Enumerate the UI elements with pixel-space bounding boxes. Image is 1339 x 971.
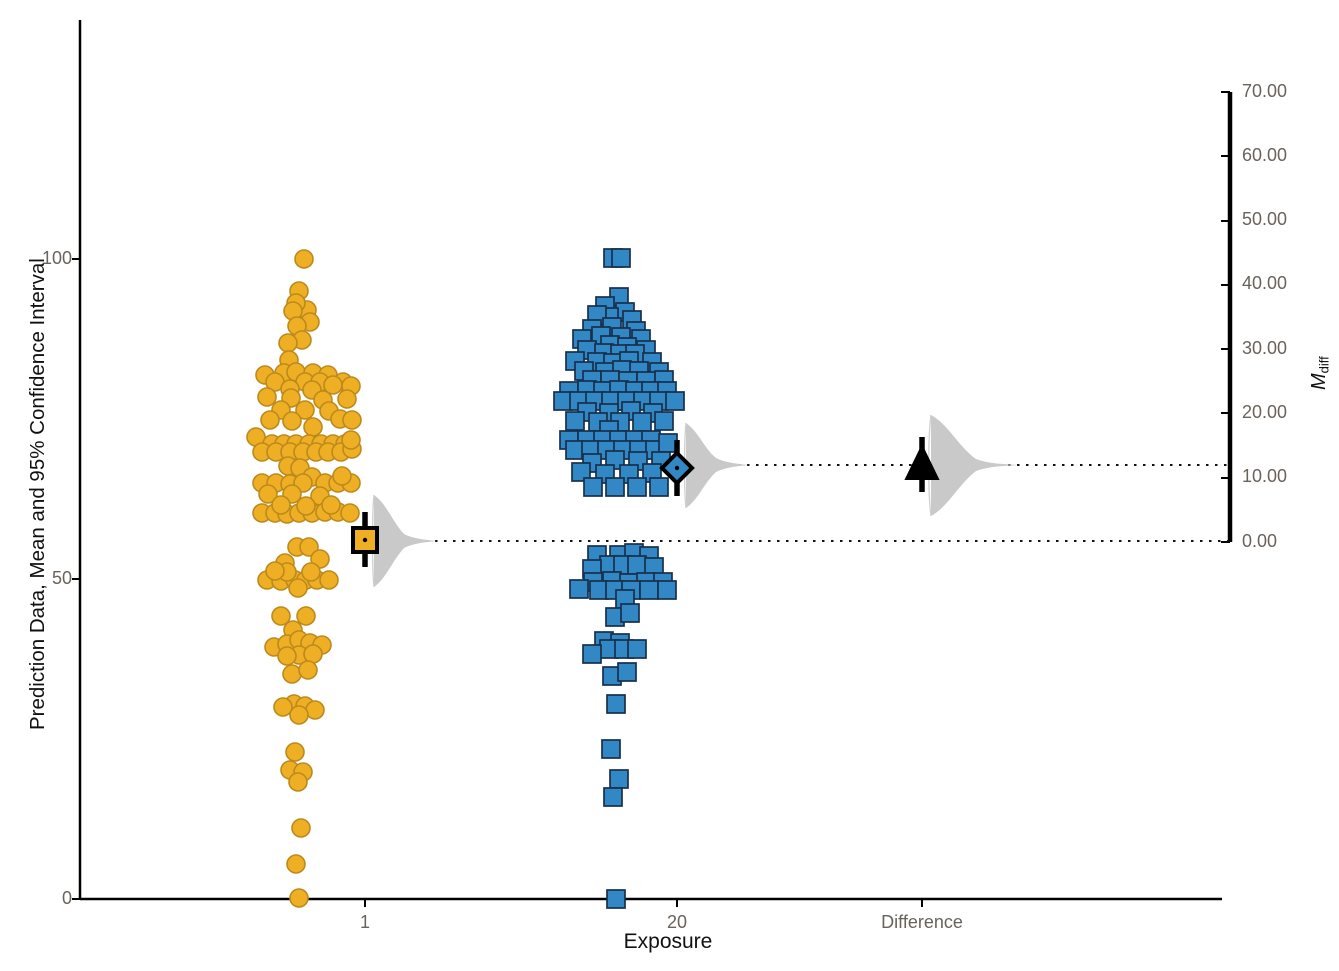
group2-distribution <box>685 423 750 508</box>
group1-mean-ci <box>353 512 377 567</box>
difference-distribution <box>929 415 1018 516</box>
estimation-plot: Prediction Data, Mean and 95% Confidence… <box>0 0 1339 971</box>
plot-canvas <box>0 0 1339 971</box>
group1-swarm <box>247 250 361 907</box>
group1-distribution <box>373 495 438 587</box>
group2-swarm <box>554 249 684 908</box>
